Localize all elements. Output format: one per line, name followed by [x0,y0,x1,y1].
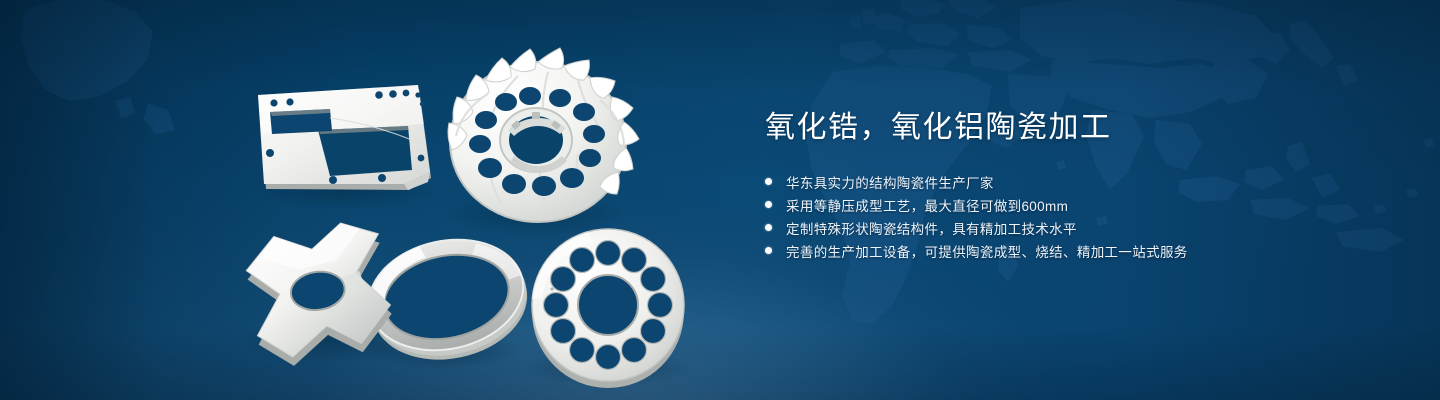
list-item: 采用等静压成型工艺，最大直径可做到600mm [765,193,1385,216]
ceramic-perforated-disc-shape [532,229,684,388]
bullet-dot-icon [765,178,772,185]
ceramic-impeller-shape [448,48,639,222]
list-item: 定制特殊形状陶瓷结构件，具有精加工技术水平 [765,216,1385,239]
list-item: 完善的生产加工设备，可提供陶瓷成型、烧结、精加工一站式服务 [765,239,1385,262]
feature-text: 华东具实力的结构陶瓷件生产厂家 [786,172,994,192]
bullet-dot-icon [765,224,772,231]
feature-list: 华东具实力的结构陶瓷件生产厂家 采用等静压成型工艺，最大直径可做到600mm 定… [765,170,1385,262]
banner-headline: 氧化锆，氧化铝陶瓷加工 [765,108,1385,148]
banner-copy: 氧化锆，氧化铝陶瓷加工 华东具实力的结构陶瓷件生产厂家 采用等静压成型工艺，最大… [765,108,1385,262]
hero-banner: 氧化锆，氧化铝陶瓷加工 华东具实力的结构陶瓷件生产厂家 采用等静压成型工艺，最大… [0,0,1440,400]
list-item: 华东具实力的结构陶瓷件生产厂家 [765,170,1385,193]
feature-text: 定制特殊形状陶瓷结构件，具有精加工技术水平 [786,218,1077,238]
feature-text: 采用等静压成型工艺，最大直径可做到600mm [786,195,1068,215]
product-collage [0,0,760,400]
feature-text: 完善的生产加工设备，可提供陶瓷成型、烧结、精加工一站式服务 [786,241,1188,261]
bullet-dot-icon [765,247,772,254]
ceramic-plate-shape [258,85,431,190]
bullet-dot-icon [765,201,772,208]
